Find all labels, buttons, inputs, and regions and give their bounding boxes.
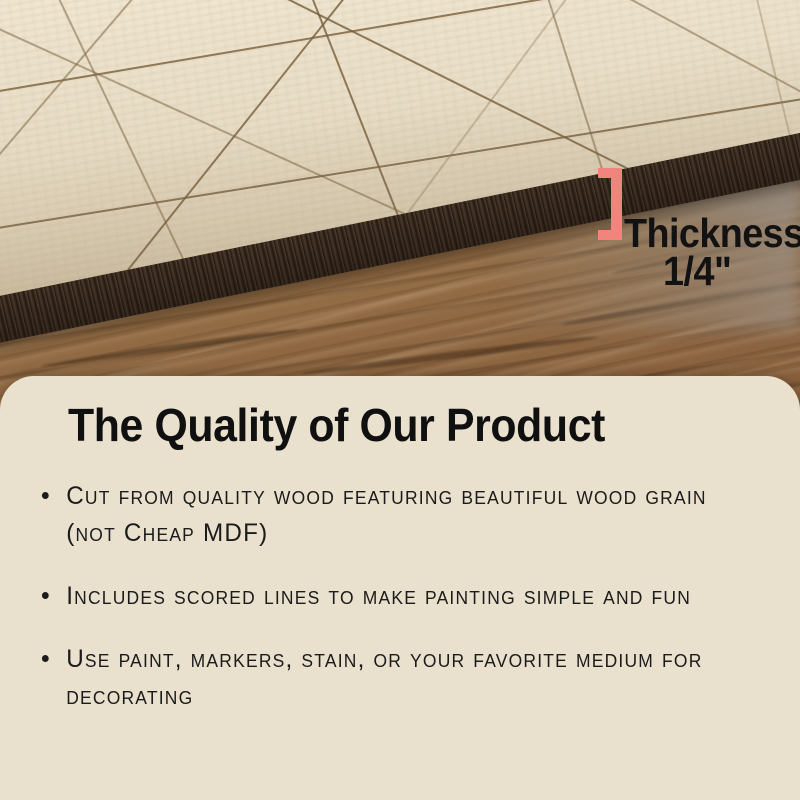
- scored-line-diagonal: [291, 0, 800, 130]
- scored-line: [239, 0, 413, 253]
- scored-line-diagonal: [516, 0, 800, 72]
- thickness-value: 1/4": [663, 248, 731, 295]
- list-item: Use paint, markers, stain, or your favor…: [40, 641, 738, 715]
- list-item-text: Cut from quality wood featuring beautifu…: [66, 482, 707, 547]
- panel-title: The Quality of Our Product: [68, 398, 605, 452]
- scored-line: [0, 0, 800, 17]
- list-item-text: Use paint, markers, stain, or your favor…: [66, 645, 702, 710]
- bracket-arm-bottom: [598, 230, 622, 240]
- product-feature-card: Thickness 1/4" The Quality of Our Produc…: [0, 0, 800, 800]
- bullet-dot-icon: [42, 592, 49, 599]
- scored-line-diagonal: [0, 0, 433, 227]
- scored-line-diagonal: [38, 0, 656, 183]
- scored-line: [0, 0, 800, 113]
- list-item-text: Includes scored lines to make painting s…: [66, 582, 691, 610]
- scored-line: [0, 0, 198, 289]
- list-item: Includes scored lines to make painting s…: [40, 578, 738, 615]
- bullet-dot-icon: [42, 655, 49, 662]
- scored-line-diagonal: [0, 0, 34, 286]
- bracket-arm-top: [598, 168, 622, 178]
- quality-bullet-list: Cut from quality wood featuring beautifu…: [40, 478, 760, 741]
- thickness-bracket-icon: [598, 168, 622, 240]
- list-item: Cut from quality wood featuring beautifu…: [40, 478, 738, 552]
- bullet-dot-icon: [42, 492, 49, 499]
